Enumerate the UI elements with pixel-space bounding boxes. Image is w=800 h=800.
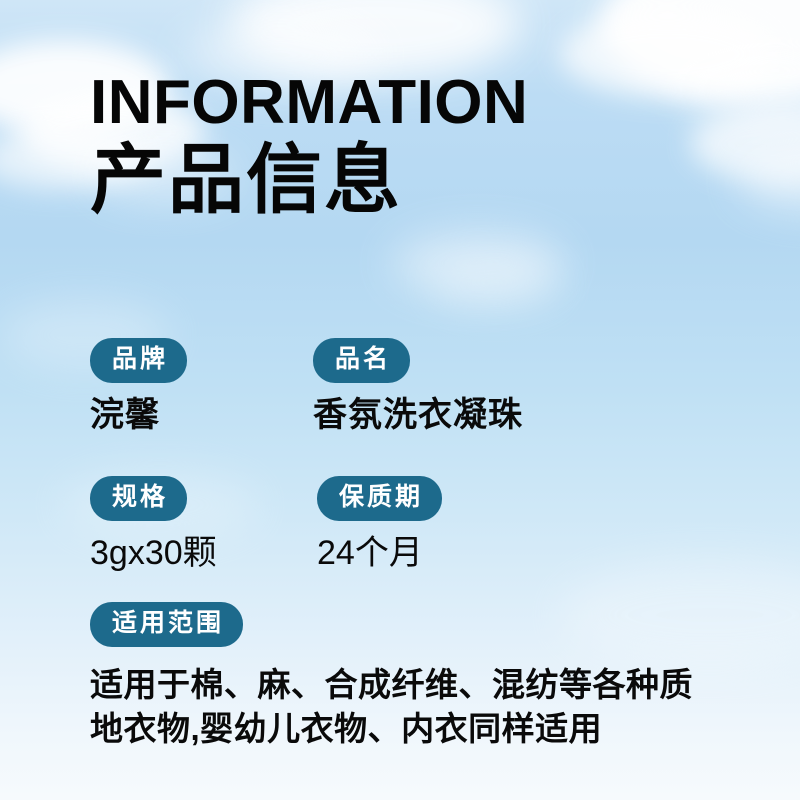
spec-label-shelf-life: 保质期	[317, 476, 442, 521]
page-heading: INFORMATION 产品信息	[90, 72, 528, 222]
cloud-icon	[390, 230, 565, 296]
spec-value-brand: 浣馨	[90, 397, 187, 434]
scope-label: 适用范围	[90, 602, 243, 647]
cloud-icon	[600, 0, 800, 100]
cloud-icon	[680, 55, 800, 125]
scope-section: 适用范围 适用于棉、麻、合成纤维、混纺等各种质 地衣物,婴幼儿衣物、内衣同样适用	[90, 602, 790, 750]
cloud-icon	[430, 258, 560, 306]
scope-description-line-1: 适用于棉、麻、合成纤维、混纺等各种质	[90, 663, 790, 707]
spec-item-specification: 规格 3gx30颗	[90, 476, 217, 572]
scope-description: 适用于棉、麻、合成纤维、混纺等各种质 地衣物,婴幼儿衣物、内衣同样适用	[90, 663, 790, 750]
spec-label-specification: 规格	[90, 476, 187, 521]
spec-value-shelf-life: 24个月	[317, 535, 442, 572]
spec-label-product-name: 品名	[313, 338, 410, 383]
spec-list: 品牌 浣馨 品名 香氛洗衣凝珠 规格 3gx30颗 保质期 24个月	[90, 338, 750, 614]
spec-row: 规格 3gx30颗 保质期 24个月	[90, 476, 750, 614]
spec-item-brand: 品牌 浣馨	[90, 338, 187, 434]
scope-description-line-2: 地衣物,婴幼儿衣物、内衣同样适用	[90, 707, 790, 751]
spec-value-specification: 3gx30颗	[90, 535, 217, 572]
cloud-icon	[740, 150, 800, 210]
page-title-chinese: 产品信息	[90, 140, 528, 222]
spec-value-product-name: 香氛洗衣凝珠	[313, 397, 523, 434]
product-information-card: INFORMATION 产品信息 品牌 浣馨 品名 香氛洗衣凝珠 规格 3gx3…	[0, 0, 800, 800]
spec-item-shelf-life: 保质期 24个月	[317, 476, 442, 572]
spec-row: 品牌 浣馨 品名 香氛洗衣凝珠	[90, 338, 750, 476]
spec-label-brand: 品牌	[90, 338, 187, 383]
page-title-english: INFORMATION	[90, 72, 528, 134]
spec-item-product-name: 品名 香氛洗衣凝珠	[313, 338, 523, 434]
cloud-icon	[560, 10, 775, 98]
cloud-icon	[690, 105, 800, 183]
